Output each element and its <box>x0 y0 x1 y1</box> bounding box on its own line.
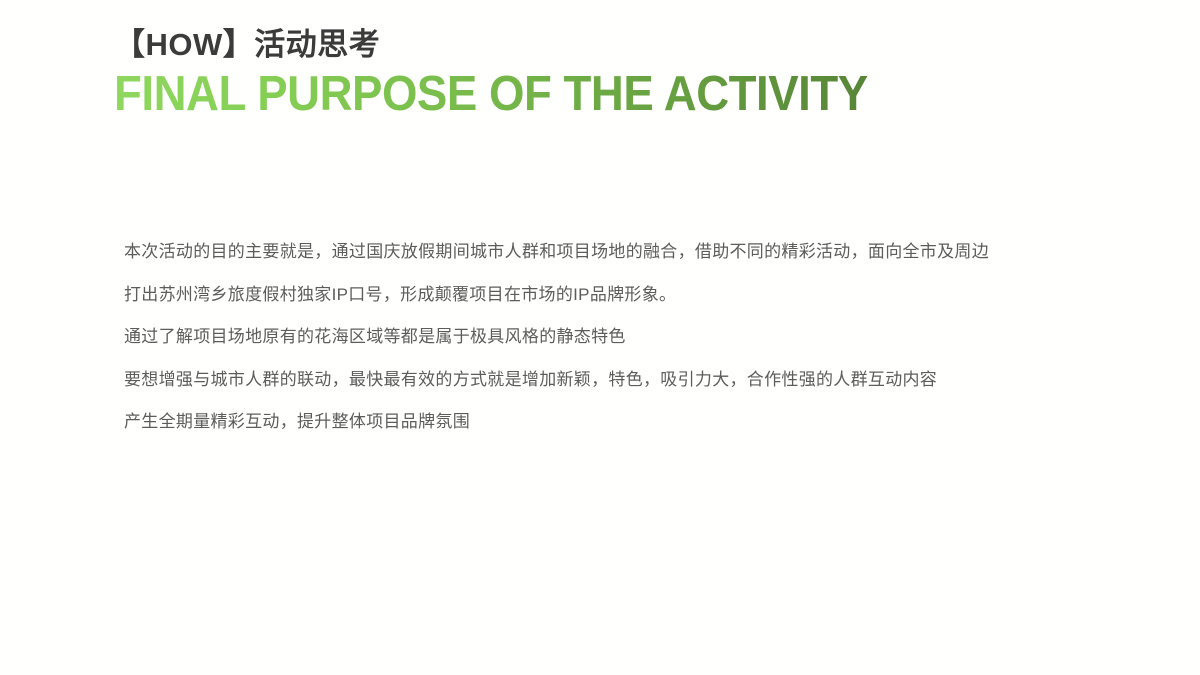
body-paragraph-line: 通过了解项目场地原有的花海区域等都是属于极具风格的静态特色 <box>124 316 1064 359</box>
page-title-english: FINAL PURPOSE OF THE ACTIVITY <box>114 66 951 122</box>
slide-heading-block: 【HOW】活动思考 FINAL PURPOSE OF THE ACTIVITY <box>114 24 1014 122</box>
body-paragraph-line: 本次活动的目的主要就是，通过国庆放假期间城市人群和项目场地的融合，借助不同的精彩… <box>124 231 1064 274</box>
body-paragraph-line: 要想增强与城市人群的联动，最快最有效的方式就是增加新颖，特色，吸引力大，合作性强… <box>124 359 1064 402</box>
body-paragraph-line: 打出苏州湾乡旅度假村独家IP口号，形成颠覆项目在市场的IP品牌形象。 <box>124 274 1064 317</box>
body-paragraph-line: 产生全期量精彩互动，提升整体项目品牌氛围 <box>124 401 1064 444</box>
body-text-block: 本次活动的目的主要就是，通过国庆放假期间城市人群和项目场地的融合，借助不同的精彩… <box>124 231 1064 444</box>
page-title-chinese: 【HOW】活动思考 <box>114 24 1014 66</box>
slide-canvas: 【HOW】活动思考 FINAL PURPOSE OF THE ACTIVITY … <box>0 0 1200 675</box>
